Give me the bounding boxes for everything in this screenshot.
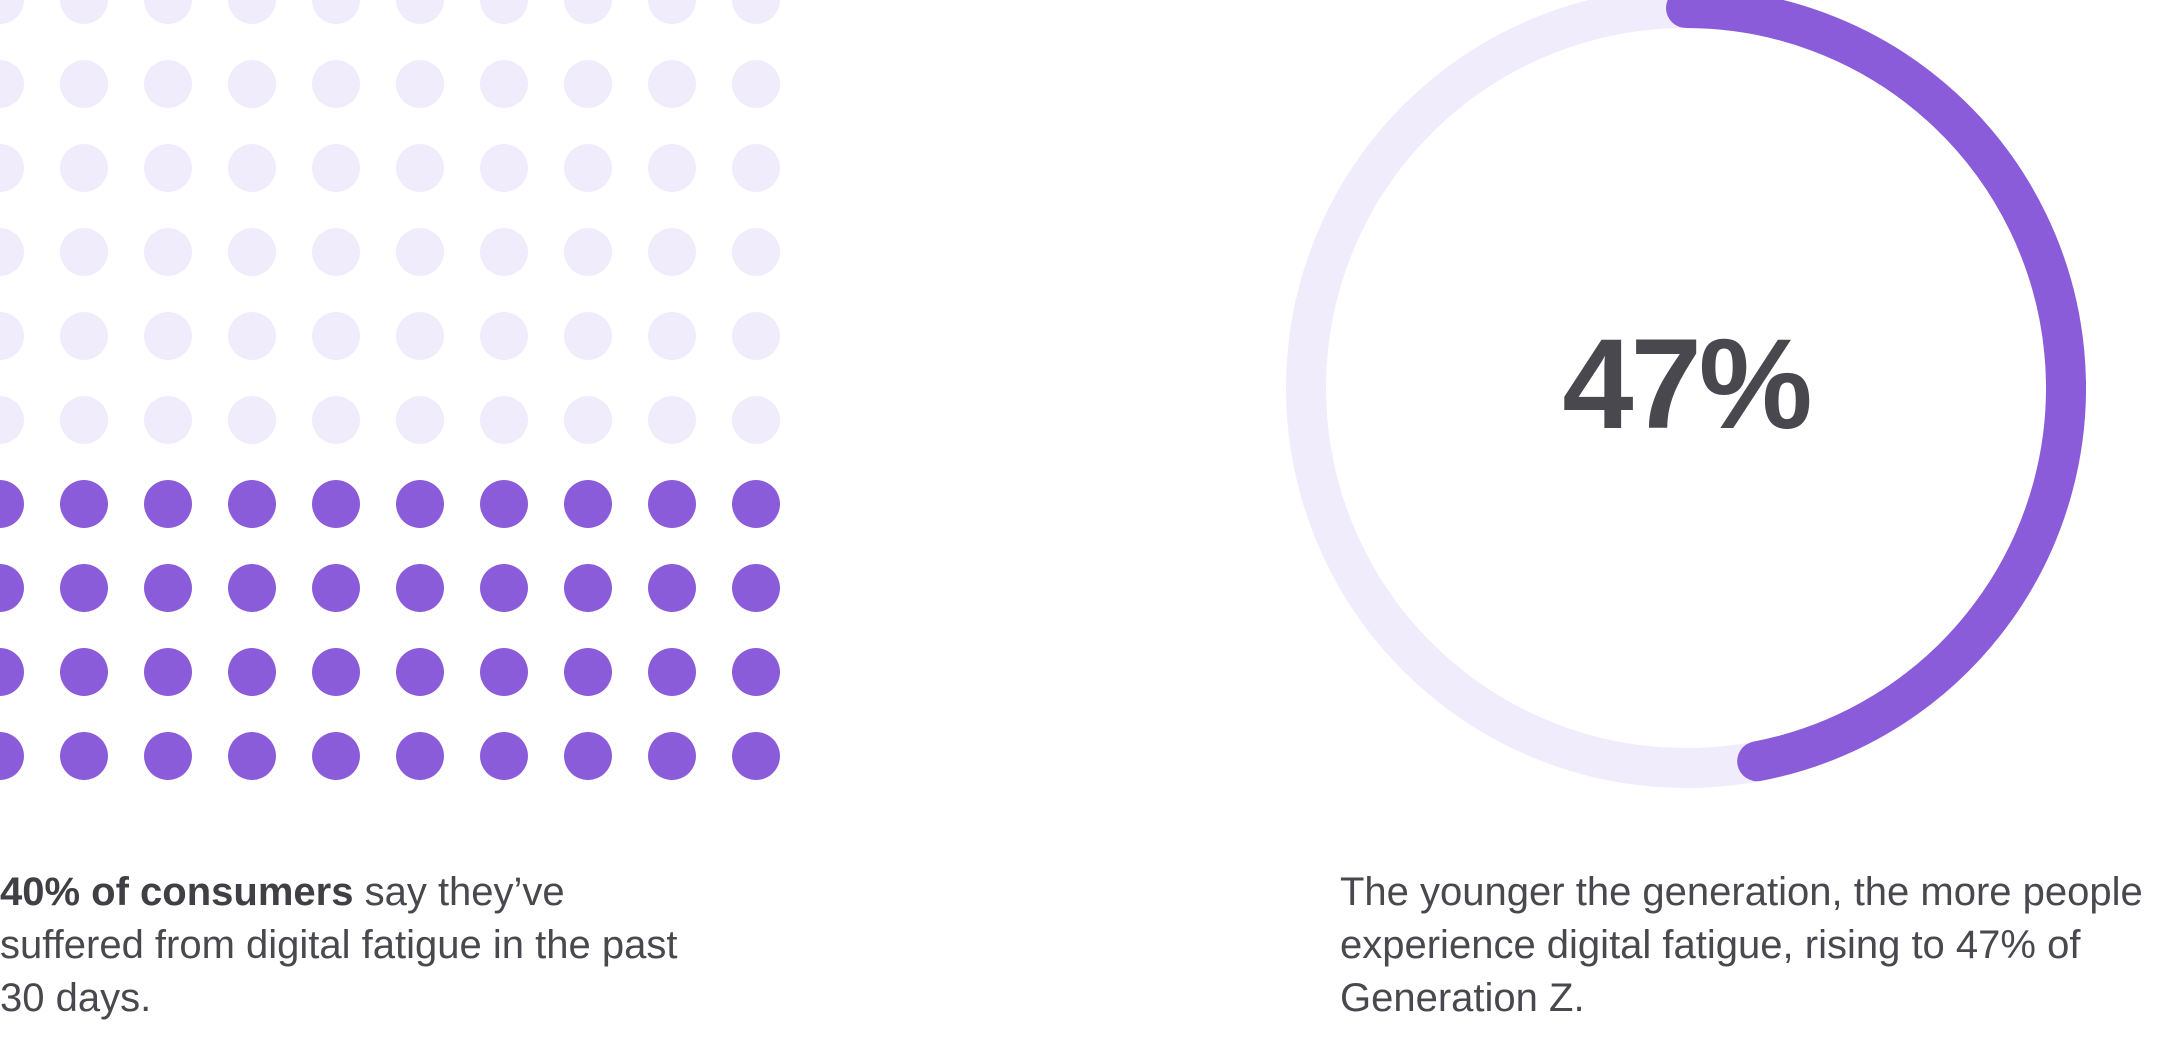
dot-filled [0, 480, 24, 528]
dot-empty [396, 144, 444, 192]
dot-empty [0, 312, 24, 360]
dot-empty [312, 312, 360, 360]
dot-filled [564, 564, 612, 612]
dot-empty [648, 60, 696, 108]
dot-empty [144, 396, 192, 444]
dot-empty [480, 144, 528, 192]
dot-filled [732, 648, 780, 696]
dot-empty [648, 396, 696, 444]
dot-empty [396, 0, 444, 24]
dot-empty [648, 228, 696, 276]
dot-filled [564, 732, 612, 780]
dot-filled [228, 732, 276, 780]
dot-empty [480, 60, 528, 108]
dot-empty [228, 0, 276, 24]
dot-filled [312, 648, 360, 696]
dot-empty [564, 312, 612, 360]
dot-empty [60, 312, 108, 360]
donut-gauge-panel: 47% [1286, 0, 2086, 808]
dot-empty [144, 60, 192, 108]
dot-filled [228, 564, 276, 612]
dot-empty [480, 228, 528, 276]
dot-empty [480, 0, 528, 24]
dot-filled [648, 732, 696, 780]
dot-empty [732, 312, 780, 360]
dot-empty [480, 312, 528, 360]
dot-filled [0, 732, 24, 780]
dot-filled [0, 564, 24, 612]
dot-filled [480, 732, 528, 780]
dot-empty [60, 228, 108, 276]
dot-empty [0, 60, 24, 108]
dot-empty [732, 396, 780, 444]
dot-empty [396, 396, 444, 444]
dot-empty [396, 228, 444, 276]
right-caption: The younger the generation, the more peo… [1340, 866, 2160, 1026]
dot-empty [0, 228, 24, 276]
dot-empty [228, 228, 276, 276]
dot-empty [60, 0, 108, 24]
dot-empty [312, 228, 360, 276]
dot-empty [648, 144, 696, 192]
dot-filled [144, 480, 192, 528]
dot-filled [732, 732, 780, 780]
dot-filled [144, 564, 192, 612]
dot-empty [60, 144, 108, 192]
dot-empty [564, 60, 612, 108]
dot-empty [312, 396, 360, 444]
dot-filled [60, 648, 108, 696]
dot-empty [60, 60, 108, 108]
dot-filled [144, 648, 192, 696]
dot-filled [228, 480, 276, 528]
dot-empty [312, 144, 360, 192]
dot-filled [396, 480, 444, 528]
dot-empty [0, 0, 24, 24]
dot-filled [312, 564, 360, 612]
dot-filled [564, 480, 612, 528]
dot-empty [228, 144, 276, 192]
dot-empty [60, 396, 108, 444]
dot-empty [228, 312, 276, 360]
dot-empty [564, 0, 612, 24]
infographic-canvas: 47% 40% of consumers say they’ve suffere… [0, 0, 2176, 1044]
dot-empty [564, 228, 612, 276]
dot-empty [732, 144, 780, 192]
dot-filled [60, 564, 108, 612]
dot-filled [648, 564, 696, 612]
dot-filled [732, 480, 780, 528]
dot-empty [564, 396, 612, 444]
dot-filled [312, 480, 360, 528]
dot-filled [480, 648, 528, 696]
dot-filled [396, 732, 444, 780]
dot-empty [732, 60, 780, 108]
left-caption: 40% of consumers say they’ve suffered fr… [0, 866, 700, 1026]
dot-filled [144, 732, 192, 780]
dot-empty [648, 0, 696, 24]
dot-filled [480, 564, 528, 612]
dot-empty [312, 60, 360, 108]
dot-empty [144, 0, 192, 24]
dot-empty [312, 0, 360, 24]
left-caption-highlight: 40% of consumers [0, 870, 353, 914]
dot-filled [732, 564, 780, 612]
dot-filled [60, 480, 108, 528]
dot-empty [480, 396, 528, 444]
dot-empty [732, 0, 780, 24]
dot-empty [396, 312, 444, 360]
dot-filled [312, 732, 360, 780]
dot-empty [396, 60, 444, 108]
dot-empty [144, 228, 192, 276]
dot-empty [732, 228, 780, 276]
dot-empty [228, 60, 276, 108]
dot-empty [0, 144, 24, 192]
dot-filled [648, 480, 696, 528]
dot-empty [228, 396, 276, 444]
dot-empty [0, 396, 24, 444]
dot-filled [0, 648, 24, 696]
dot-filled [396, 648, 444, 696]
dot-filled [60, 732, 108, 780]
dot-filled [396, 564, 444, 612]
dot-empty [564, 144, 612, 192]
donut-center-value: 47% [1286, 0, 2086, 785]
dot-empty [144, 312, 192, 360]
dot-filled [480, 480, 528, 528]
dot-empty [648, 312, 696, 360]
dot-matrix-panel [0, 0, 800, 790]
dot-filled [564, 648, 612, 696]
dot-filled [228, 648, 276, 696]
dot-filled [648, 648, 696, 696]
dot-empty [144, 144, 192, 192]
